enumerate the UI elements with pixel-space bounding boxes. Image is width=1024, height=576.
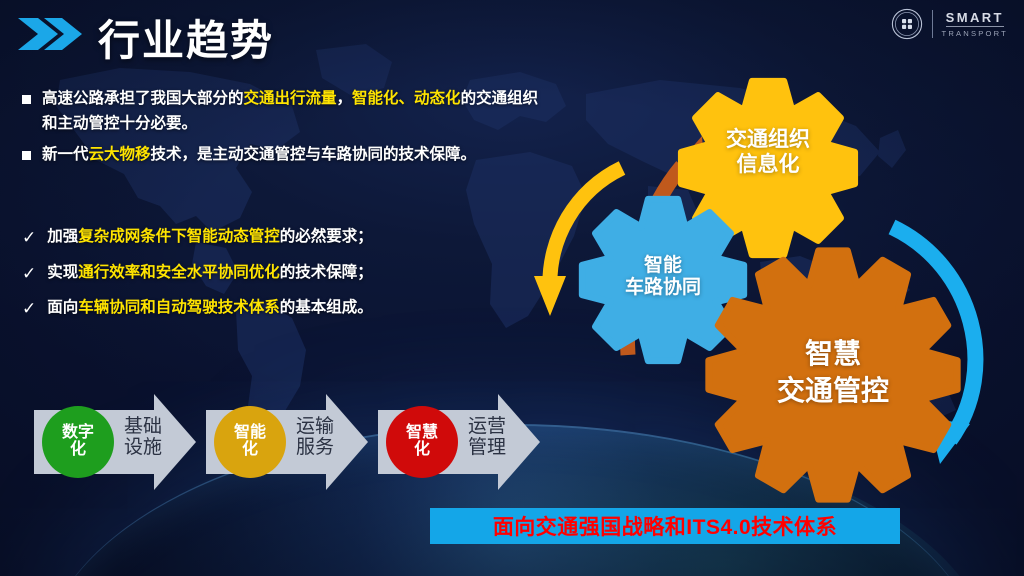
highlighted-text: 交通出行流量 [244, 90, 337, 107]
item-text: 高速公路承担了我国大部分的交通出行流量，智能化、动态化的交通组织和主动管控十分必… [42, 86, 542, 136]
page-title: 行业趋势 [98, 7, 274, 68]
process-flow: 数字化基础设施智能化运输服务智慧化运营管理 [14, 392, 574, 497]
flow-label-line2: 服务 [278, 437, 352, 458]
plain-text: 的技术保障； [280, 264, 373, 281]
highlighted-text: 云大物移 [89, 146, 151, 163]
item-text: 面向车辆协同和自动驾驶技术体系的基本组成。 [47, 295, 373, 320]
plain-text: 加强 [47, 228, 78, 245]
flow-label-line1: 运输 [278, 416, 352, 437]
slide-canvas: 行业趋势 SMART TRANSPORT 高速公路承担了我国大部分的交通出行流量… [0, 0, 1024, 576]
flow-label-line1: 基础 [106, 416, 180, 437]
traffic-organization-gear-label-wrap: 交通组织 信息化 [668, 78, 868, 228]
flow-step-label: 运输服务 [278, 416, 352, 459]
flow-step-badge[interactable]: 智能化 [214, 406, 286, 478]
plain-text: 的基本组成。 [280, 299, 373, 316]
bullet-list: 高速公路承担了我国大部分的交通出行流量，智能化、动态化的交通组织和主动管控十分必… [22, 86, 542, 173]
gear-label-line1: 智慧 [805, 336, 861, 373]
item-text: 实现通行效率和安全水平协同优化的技术保障； [47, 260, 373, 285]
item-text: 新一代云大物移技术，是主动交通管控与车路协同的技术保障。 [42, 142, 476, 167]
check-list: ✓加强复杂成网条件下智能动态管控的必然要求；✓实现通行效率和安全水平协同优化的技… [22, 224, 502, 331]
plain-text: 的必然要求； [280, 228, 373, 245]
flow-badge-line2: 化 [414, 442, 430, 459]
logo-divider [932, 10, 933, 38]
brand-logo: SMART TRANSPORT [891, 8, 1009, 40]
plain-text: 新一代 [42, 146, 89, 163]
flow-badge-line1: 数字 [62, 425, 94, 442]
plain-text: 面向 [47, 299, 78, 316]
check-mark-icon: ✓ [22, 296, 36, 322]
flow-badge-line2: 化 [70, 442, 86, 459]
plain-text: ， [337, 90, 353, 107]
flow-badge-line1: 智慧 [406, 425, 438, 442]
gear-label-line2: 信息化 [737, 153, 800, 178]
check-item: ✓加强复杂成网条件下智能动态管控的必然要求； [22, 224, 502, 251]
highlighted-text: 通行效率和安全水平协同优化 [78, 264, 280, 281]
smart-traffic-gear-label: 智慧 交通管控 [718, 278, 948, 468]
circular-seal-icon [891, 8, 923, 40]
item-text: 加强复杂成网条件下智能动态管控的必然要求； [47, 224, 373, 249]
smart-traffic-gear-label-wrap: 智慧 交通管控 [718, 278, 948, 468]
gear-label-line2: 车路协同 [625, 277, 701, 299]
gear-label-line1: 交通组织 [726, 128, 810, 153]
bottom-banner: 面向交通强国战略和ITS4.0技术体系 [430, 508, 900, 544]
flow-label-line1: 运营 [450, 416, 524, 437]
highlighted-text: 车辆协同和自动驾驶技术体系 [78, 299, 280, 316]
flow-step-badge[interactable]: 数字化 [42, 406, 114, 478]
gear-label-line1: 智能 [644, 255, 682, 277]
flow-label-line2: 管理 [450, 437, 524, 458]
check-item: ✓面向车辆协同和自动驾驶技术体系的基本组成。 [22, 295, 502, 322]
highlighted-text: 复杂成网条件下智能动态管控 [78, 228, 280, 245]
plain-text: 高速公路承担了我国大部分的 [42, 90, 244, 107]
highlighted-text: 智能化、动态化 [352, 90, 461, 107]
bullet-square-icon [22, 95, 31, 104]
plain-text: 技术，是主动交通管控与车路协同的技术保障。 [151, 146, 477, 163]
plain-text: 实现 [47, 264, 78, 281]
bullet-item: 新一代云大物移技术，是主动交通管控与车路协同的技术保障。 [22, 142, 542, 167]
traffic-organization-gear-label: 交通组织 信息化 [668, 78, 868, 228]
bullet-square-icon [22, 151, 31, 160]
flow-badge-line1: 智能 [234, 425, 266, 442]
double-chevron-right-icon [18, 16, 90, 52]
flow-step-badge[interactable]: 智慧化 [386, 406, 458, 478]
bullet-item: 高速公路承担了我国大部分的交通出行流量，智能化、动态化的交通组织和主动管控十分必… [22, 86, 542, 136]
check-mark-icon: ✓ [22, 225, 36, 251]
logo-smart-text: SMART [946, 11, 1004, 27]
check-mark-icon: ✓ [22, 261, 36, 287]
gear-label-line2: 交通管控 [777, 373, 889, 410]
flow-step-label: 运营管理 [450, 416, 524, 459]
bottom-banner-text: 面向交通强国战略和ITS4.0技术体系 [493, 511, 837, 541]
flow-step-label: 基础设施 [106, 416, 180, 459]
check-item: ✓实现通行效率和安全水平协同优化的技术保障； [22, 260, 502, 287]
flow-badge-line2: 化 [242, 442, 258, 459]
logo-transport-text: TRANSPORT [942, 30, 1009, 38]
flow-label-line2: 设施 [106, 437, 180, 458]
